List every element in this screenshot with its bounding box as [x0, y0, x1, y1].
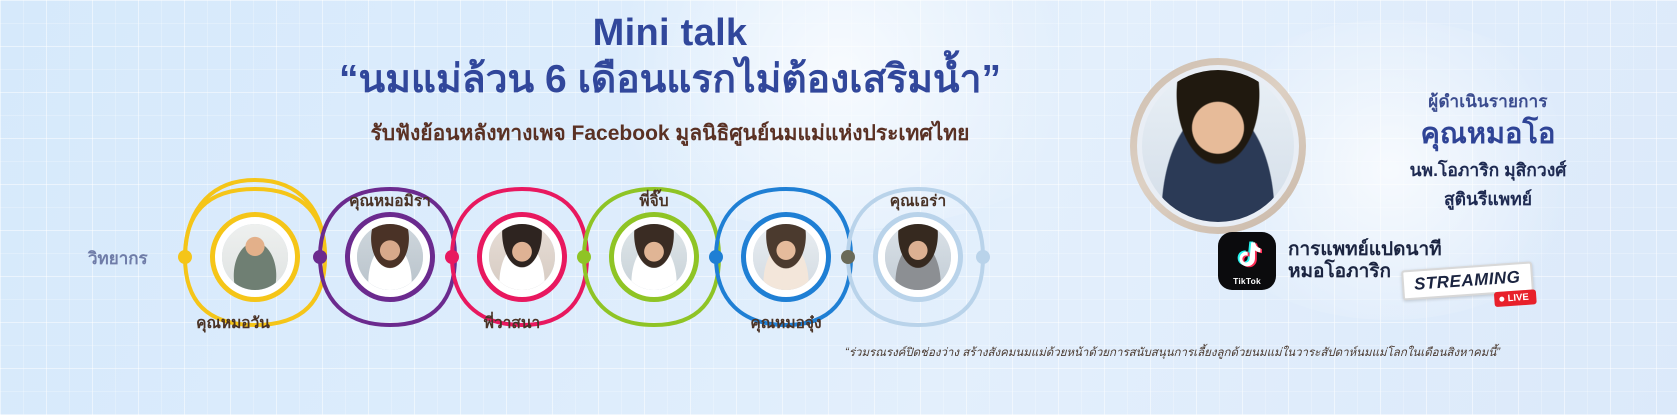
- speaker-label-2: พี่วาสนา: [484, 310, 540, 335]
- timeline-node-1: [313, 250, 327, 264]
- live-dot-icon: [1500, 296, 1505, 301]
- timeline-node-2: [445, 250, 459, 264]
- timeline-node-6: [976, 250, 990, 264]
- timeline-node-5: [841, 250, 855, 264]
- timeline-section-label: วิทยากร: [88, 245, 148, 272]
- speaker-avatar-4[interactable]: [741, 212, 831, 302]
- page-title: Mini talk: [230, 14, 1110, 54]
- live-label: LIVE: [1507, 292, 1529, 304]
- host-avatar-photo: [1142, 70, 1294, 222]
- title-subtitle: รับฟังย้อนหลังทางเพจ Facebook มูลนิธิศูน…: [230, 117, 1110, 150]
- speaker-avatar-1[interactable]: [345, 212, 435, 302]
- timeline-node-3: [577, 250, 591, 264]
- tiktok-channel-line-1: การแพทย์แปดนาที: [1288, 239, 1442, 261]
- speaker-avatar-5[interactable]: [873, 212, 963, 302]
- speaker-label-3: พี่จิ๊บ: [639, 188, 668, 213]
- host-role: ผู้ดำเนินรายการ: [1318, 88, 1658, 115]
- speaker-avatar-2[interactable]: [477, 212, 567, 302]
- live-badge: LIVE: [1494, 289, 1536, 307]
- webinar-promo-banner: Mini talk “นมแม่ล้วน 6 เดือนแรกไม่ต้องเส…: [0, 0, 1677, 415]
- timeline-node-0: [178, 250, 192, 264]
- host-avatar[interactable]: [1130, 58, 1306, 234]
- bottom-caption: “ร่วมรณรงค์ปิดช่องว่าง สร้างสังคมนมแม่ด้…: [845, 344, 1500, 362]
- speaker-avatar-0[interactable]: [210, 212, 300, 302]
- host-specialty: สูตินรีแพทย์: [1318, 185, 1658, 213]
- speaker-label-1: คุณหมอมิรา: [349, 188, 431, 213]
- host-name: คุณหมอโอ: [1318, 119, 1658, 151]
- speaker-avatar-3[interactable]: [609, 212, 699, 302]
- title-block: Mini talk “นมแม่ล้วน 6 เดือนแรกไม่ต้องเส…: [230, 14, 1110, 150]
- timeline-node-4: [709, 250, 723, 264]
- tiktok-label: TikTok: [1218, 276, 1276, 286]
- host-full-name: นพ.โอภาริก มุสิกวงศ์: [1318, 156, 1658, 184]
- tiktok-note-glyph: [1232, 240, 1262, 272]
- speaker-label-5: คุณเอร่า: [890, 188, 946, 213]
- speaker-label-0: คุณหมอวัน: [196, 310, 270, 335]
- speaker-label-4: คุณหมอจุ๋ง: [750, 310, 821, 335]
- tiktok-icon[interactable]: TikTok: [1218, 232, 1276, 290]
- host-info: ผู้ดำเนินรายการ คุณหมอโอ นพ.โอภาริก มุสิ…: [1318, 88, 1658, 213]
- title-quote: “นมแม่ล้วน 6 เดือนแรกไม่ต้องเสริมน้ำ”: [230, 56, 1110, 105]
